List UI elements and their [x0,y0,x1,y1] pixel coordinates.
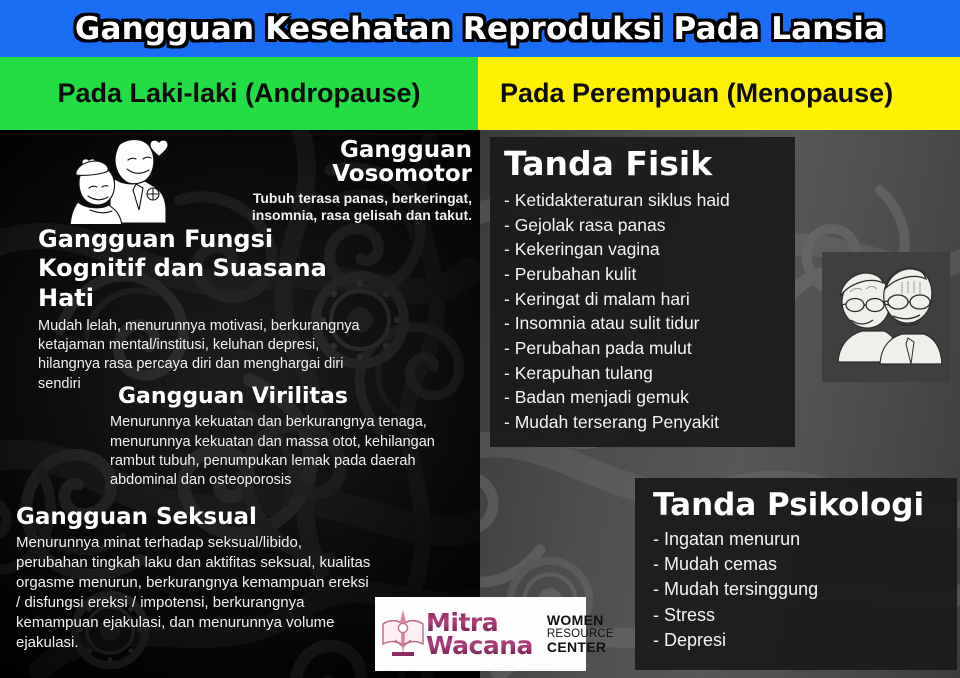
list-item: - Ketidakteraturan siklus haid [504,188,795,213]
list-item: - Kerapuhan tulang [504,361,795,386]
list-item: - Mudah cemas [653,552,957,577]
page-title: Gangguan Kesehatan Reproduksi Pada Lansi… [75,11,885,47]
female-column-header: Pada Perempuan (Menopause) [478,57,960,130]
section-seksual-title: Gangguan Seksual [16,505,376,529]
female-column-header-label: Pada Perempuan (Menopause) [500,78,893,109]
section-kognitif: Gangguan Fungsi Kognitif dan Suasana Hat… [38,225,368,394]
panel-tanda-psikologi-list: - Ingatan menurun- Mudah cemas- Mudah te… [653,527,957,653]
section-vosomotor-title: Gangguan Vosomotor [196,138,472,187]
mitra-wacana-logo: Mitra Wacana WOMEN RESOURCE CENTER [375,597,586,671]
elderly-couple-portrait-image [822,252,950,382]
list-item: - Depresi [653,628,957,653]
panel-tanda-psikologi-title: Tanda Psikologi [653,490,957,521]
list-item: - Badan menjadi gemuk [504,385,795,410]
logo-tagline-women: WOMEN [547,613,614,628]
section-seksual-body: Menurunnya minat terhadap seksual/libido… [16,533,376,653]
list-item: - Mudah terserang Penyakit [504,410,795,435]
section-virilitas-body: Menurunnya kekuatan dan berkurangnya ten… [110,413,472,490]
male-column-header: Pada Laki-laki (Andropause) [0,57,478,130]
panel-tanda-fisik: Tanda Fisik - Ketidakteraturan siklus ha… [490,137,795,447]
section-seksual: Gangguan Seksual Menurunnya minat terhad… [16,505,376,653]
poster-title-band: Gangguan Kesehatan Reproduksi Pada Lansi… [0,0,960,57]
male-column-header-label: Pada Laki-laki (Andropause) [57,78,420,109]
section-vosomotor-body: Tubuh terasa panas, berkeringat, insomni… [196,190,472,225]
list-item: - Kekeringan vagina [504,237,795,262]
elderly-couple-lineart-icon [58,132,180,224]
section-virilitas: Gangguan Virilitas Menurunnya kekuatan d… [110,385,472,490]
list-item: - Ingatan menurun [653,527,957,552]
list-item: - Gejolak rasa panas [504,213,795,238]
logo-tagline: WOMEN RESOURCE CENTER [547,613,614,656]
list-item: - Insomnia atau sulit tidur [504,311,795,336]
list-item: - Perubahan pada mulut [504,336,795,361]
section-kognitif-body: Mudah lelah, menurunnya motivasi, berkur… [38,317,368,394]
list-item: - Stress [653,603,957,628]
infographic-poster: Gangguan Kesehatan Reproduksi Pada Lansi… [0,0,960,678]
male-column: Gangguan Vosomotor Tubuh terasa panas, b… [0,130,480,678]
logo-tagline-center: CENTER [547,640,614,655]
list-item: - Mudah tersinggung [653,577,957,602]
logo-wordmark: Mitra Wacana [425,611,533,657]
open-book-torch-icon [381,606,425,662]
panel-tanda-fisik-title: Tanda Fisik [504,147,795,180]
section-kognitif-title: Gangguan Fungsi Kognitif dan Suasana Hat… [38,225,368,313]
section-vosomotor: Gangguan Vosomotor Tubuh terasa panas, b… [196,138,472,225]
section-virilitas-title: Gangguan Virilitas [118,385,472,408]
list-item: - Keringat di malam hari [504,287,795,312]
panel-tanda-psikologi: Tanda Psikologi - Ingatan menurun- Mudah… [635,478,957,670]
panel-tanda-fisik-list: - Ketidakteraturan siklus haid- Gejolak … [504,188,795,435]
list-item: - Perubahan kulit [504,262,795,287]
logo-name-line2: Wacana [426,634,533,657]
